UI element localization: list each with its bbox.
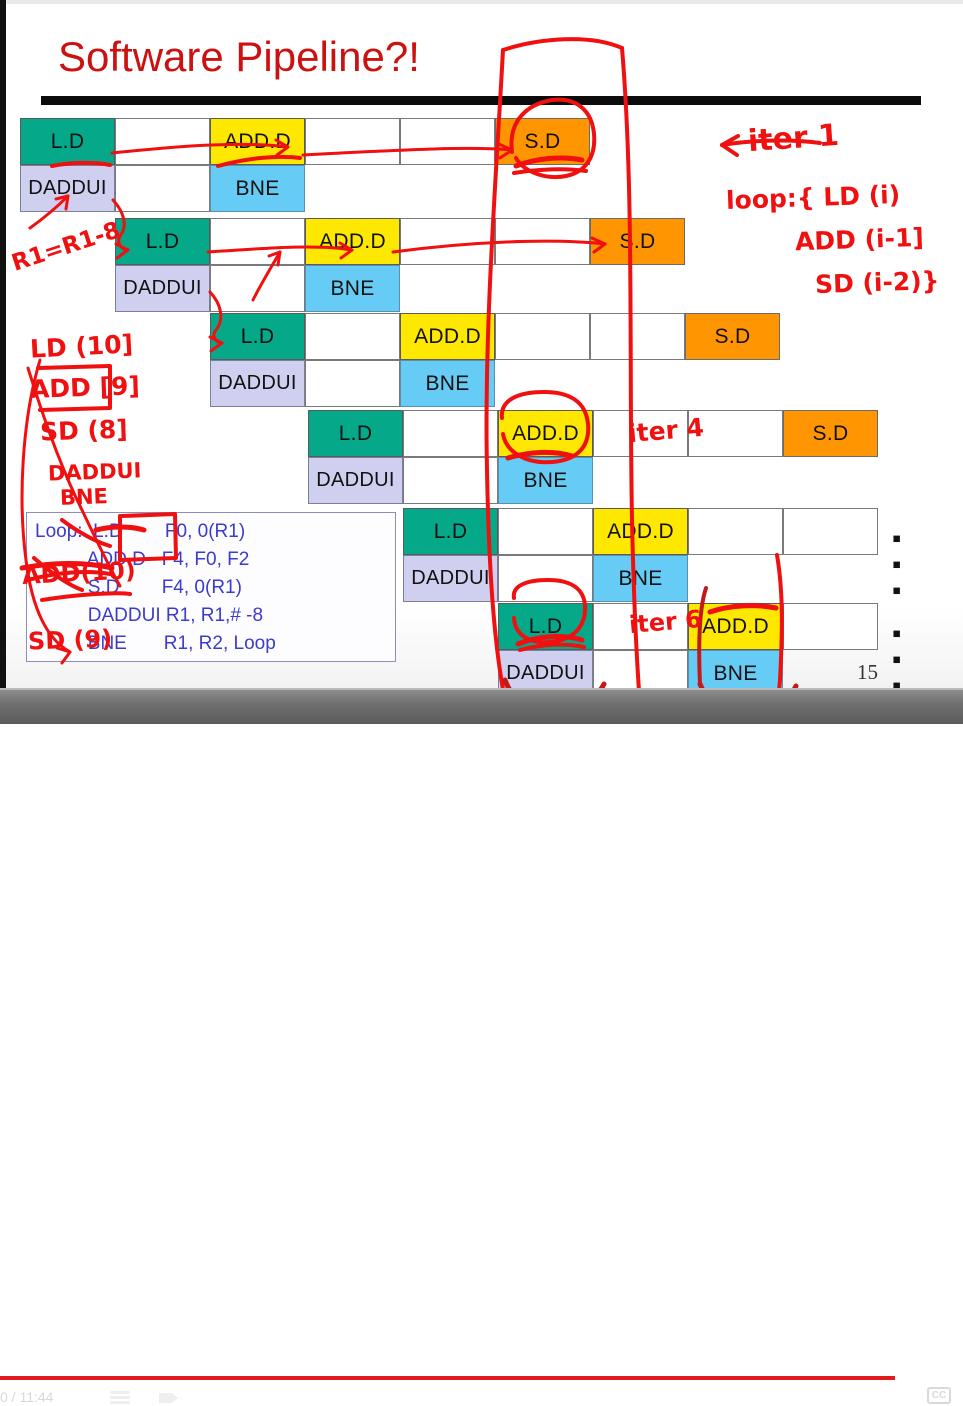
pipeline-cell-bne: BNE	[498, 457, 593, 504]
pipeline-cell-empty	[400, 218, 495, 265]
pipeline-cell-ld: L.D	[498, 603, 593, 650]
annotation-loop-line1: loop:{ LD (i)	[726, 182, 901, 213]
pipeline-cell-addd: ADD.D	[593, 508, 688, 555]
pipeline-cell-empty	[305, 360, 400, 407]
annotation-sd9: SD (9)	[28, 627, 113, 654]
pipeline-cell-bne: BNE	[400, 360, 495, 407]
pipeline-cell-bne: BNE	[593, 555, 688, 602]
annotation-add10: ADD(10)	[21, 558, 136, 588]
pipeline-cell-bne: BNE	[210, 165, 305, 212]
pipeline-cell-ld: L.D	[403, 508, 498, 555]
slide-canvas: Software Pipeline?! L.DADD.DS.DDADDUIBNE…	[0, 0, 963, 690]
row-ellipsis: ▪ ▪ ▪	[892, 525, 908, 603]
pipeline-cell-empty	[495, 313, 590, 360]
pipeline-cell-empty	[115, 118, 210, 165]
annotation-ld10: LD (10]	[29, 331, 133, 361]
annotation-loop-line2: ADD (i-1]	[795, 225, 925, 254]
pipeline-cell-empty	[115, 165, 210, 212]
closed-captions-button[interactable]: CC	[927, 1387, 951, 1404]
pipeline-cell-empty	[783, 603, 878, 650]
pipeline-cell-empty	[403, 410, 498, 457]
annotation-loop-line3: SD (i-2)}	[815, 268, 940, 297]
slide-top-edge	[0, 0, 963, 4]
pipeline-cell-empty	[400, 118, 495, 165]
annotation-iter6: iter 6	[628, 607, 703, 637]
pipeline-cell-empty	[783, 508, 878, 555]
annotation-add9: ADD [9]	[30, 373, 141, 402]
pipeline-cell-sd: S.D	[685, 313, 780, 360]
share-icon[interactable]	[158, 1390, 182, 1406]
pipeline-cell-daddui: DADDUI	[403, 555, 498, 602]
pipeline-cell-daddui: DADDUI	[20, 165, 115, 212]
title-underline-bar	[41, 96, 921, 105]
pipeline-cell-sd: S.D	[495, 118, 590, 165]
pipeline-cell-empty	[593, 650, 688, 690]
page-number: 15	[857, 660, 878, 685]
row-ellipsis: ▪ ▪ ▪	[892, 620, 908, 690]
pipeline-cell-daddui: DADDUI	[115, 265, 210, 312]
annotation-iter1: iter 1	[747, 121, 840, 157]
pipeline-cell-empty	[305, 118, 400, 165]
pipeline-cell-empty	[403, 457, 498, 504]
playlist-icon[interactable]	[110, 1390, 132, 1406]
pipeline-cell-daddui: DADDUI	[308, 457, 403, 504]
pipeline-cell-bne: BNE	[688, 650, 783, 690]
pipeline-cell-bne: BNE	[305, 265, 400, 312]
pipeline-cell-sd: S.D	[590, 218, 685, 265]
pipeline-cell-sd: S.D	[783, 410, 878, 457]
pipeline-cell-ld: L.D	[210, 313, 305, 360]
pipeline-cell-empty	[495, 218, 590, 265]
pipeline-cell-empty	[210, 265, 305, 312]
video-progress-fill[interactable]	[0, 1376, 895, 1380]
annotation-sd8: SD (8]	[40, 416, 129, 444]
pipeline-cell-daddui: DADDUI	[498, 650, 593, 690]
pipeline-cell-addd: ADD.D	[498, 410, 593, 457]
slide-left-edge	[0, 0, 6, 690]
pipeline-cell-addd: ADD.D	[400, 313, 495, 360]
pipeline-cell-empty	[210, 218, 305, 265]
pipeline-cell-ld: L.D	[115, 218, 210, 265]
slide-title: Software Pipeline?!	[58, 33, 420, 81]
video-time-label: 0 / 11:44	[0, 1389, 53, 1405]
pipeline-cell-ld: L.D	[308, 410, 403, 457]
annotation-iter4: iter 4	[627, 415, 705, 447]
pipeline-cell-ld: L.D	[20, 118, 115, 165]
pipeline-cell-empty	[305, 313, 400, 360]
video-player-bar: 0 / 11:44 CC	[0, 690, 963, 724]
pipeline-cell-addd: ADD.D	[305, 218, 400, 265]
pipeline-cell-empty	[688, 508, 783, 555]
annotation-daddui: DADDUI	[48, 460, 142, 484]
pipeline-cell-empty	[498, 555, 593, 602]
pipeline-cell-daddui: DADDUI	[210, 360, 305, 407]
code-line: DADDUI R1, R1,# -8	[35, 605, 263, 627]
pipeline-cell-empty	[498, 508, 593, 555]
annotation-bne: BNE	[60, 486, 109, 509]
code-line: Loop: L.D F0, 0(R1)	[35, 521, 245, 543]
pipeline-cell-addd: ADD.D	[210, 118, 305, 165]
pipeline-cell-empty	[590, 313, 685, 360]
annotation-r1-update: R1=R1-8	[9, 219, 123, 276]
